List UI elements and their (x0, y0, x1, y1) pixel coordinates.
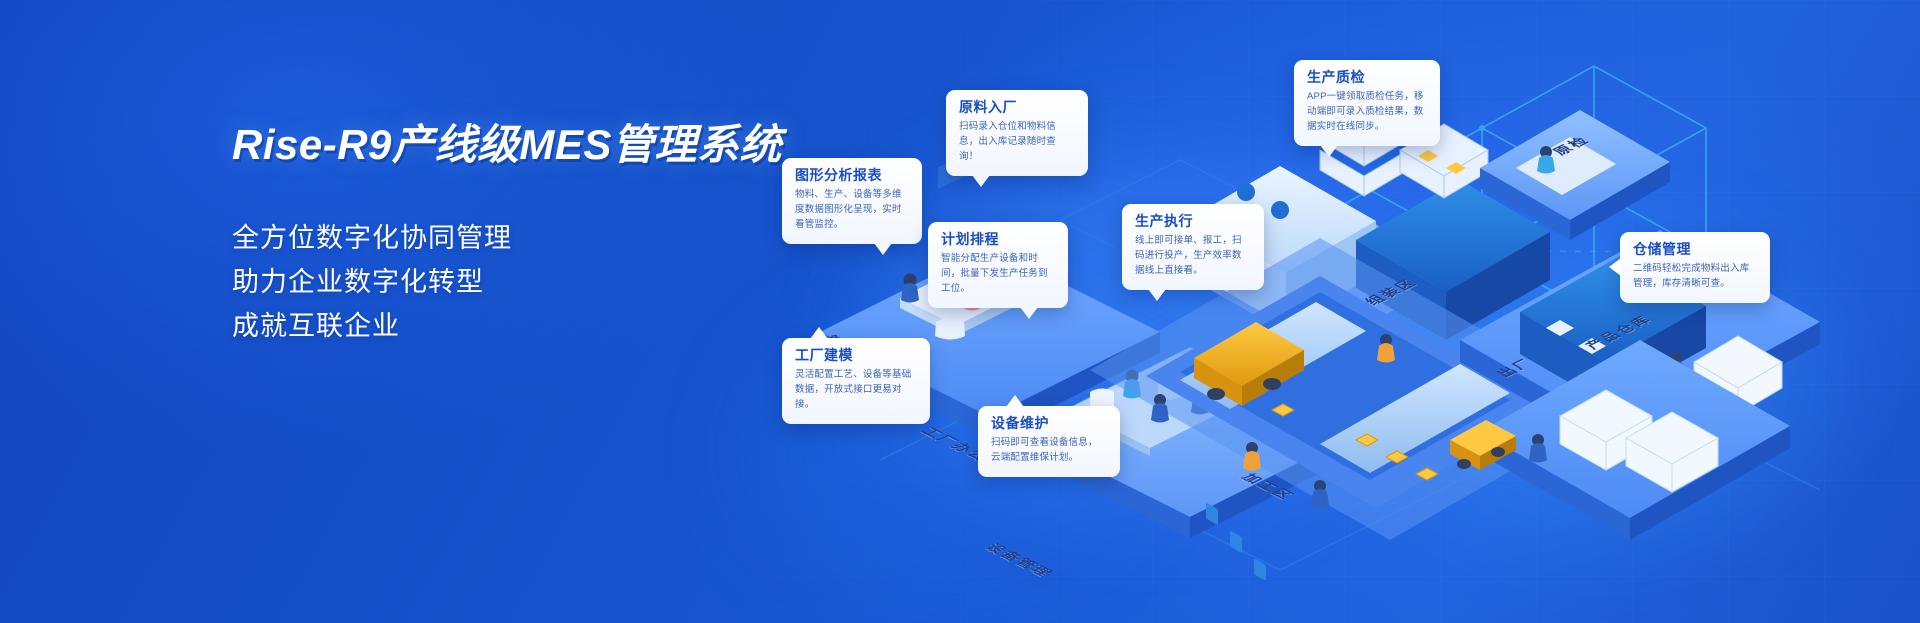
callout-card-production-execution[interactable]: 生产执行 线上即可接单、报工，扫码进行投产，生产效率数据线上直接看。 (1122, 204, 1264, 290)
card-title: 计划排程 (941, 232, 1055, 247)
card-title: 工厂建模 (795, 348, 917, 363)
card-title: 生产质检 (1307, 70, 1427, 85)
callout-card-equipment-maintenance[interactable]: 设备维护 扫码即可查看设备信息，云端配置维保计划。 (978, 406, 1120, 477)
card-description: 扫码即可查看设备信息，云端配置维保计划。 (991, 436, 1107, 465)
card-title: 仓储管理 (1633, 242, 1757, 257)
mes-hero-banner: Rise-R9产线级MES管理系统 全方位数字化协同管理 助力企业数字化转型 成… (0, 0, 1920, 623)
callout-tail-icon (1148, 289, 1166, 301)
callout-tail-icon (972, 175, 990, 187)
callout-tail-icon (1020, 307, 1038, 319)
callout-tail-icon (1006, 395, 1024, 407)
card-title: 设备维护 (991, 416, 1107, 431)
callout-tail-icon (1609, 258, 1621, 276)
card-description: 扫码录入仓位和物料信息，出入库记录随时查询！ (959, 120, 1075, 164)
card-description: 二维码轻松完成物料出入库管理，库存清晰可查。 (1633, 262, 1757, 291)
headline-cn: 产线级MES管理系统 (392, 121, 782, 168)
card-description: 灵活配置工艺、设备等基础数据，开放式接口更易对接。 (795, 368, 917, 412)
callout-card-production-quality-inspection[interactable]: 生产质检 APP一键领取质检任务，移动端即可录入质检结果，数据实时在线同步。 (1294, 60, 1440, 146)
callout-card-factory-modeling[interactable]: 工厂建模 灵活配置工艺、设备等基础数据，开放式接口更易对接。 (782, 338, 930, 424)
card-description: APP一键领取质检任务，移动端即可录入质检结果，数据实时在线同步。 (1307, 90, 1427, 134)
callout-tail-icon (1320, 145, 1338, 157)
callout-card-plan-scheduling[interactable]: 计划排程 智能分配生产设备和时间，批量下发生产任务到工位。 (928, 222, 1068, 308)
card-description: 智能分配生产设备和时间，批量下发生产任务到工位。 (941, 252, 1055, 296)
card-title: 原料入厂 (959, 100, 1075, 115)
card-description: 物料、生产、设备等多维度数据图形化呈现，实时看管监控。 (795, 188, 909, 232)
callout-card-warehouse-management[interactable]: 仓储管理 二维码轻松完成物料出入库管理，库存清晰可查。 (1620, 232, 1770, 303)
card-description: 线上即可接单、报工，扫码进行投产，生产效率数据线上直接看。 (1135, 234, 1251, 278)
card-title: 图形分析报表 (795, 168, 909, 183)
callout-card-raw-material-inbound[interactable]: 原料入厂 扫码录入仓位和物料信息，出入库记录随时查询！ (946, 90, 1088, 176)
callout-tail-icon (810, 327, 828, 339)
callout-tail-icon (874, 243, 892, 255)
headline-latin: Rise-R9 (232, 121, 392, 168)
callout-card-graphic-analysis-report[interactable]: 图形分析报表 物料、生产、设备等多维度数据图形化呈现，实时看管监控。 (782, 158, 922, 244)
card-title: 生产执行 (1135, 214, 1251, 229)
